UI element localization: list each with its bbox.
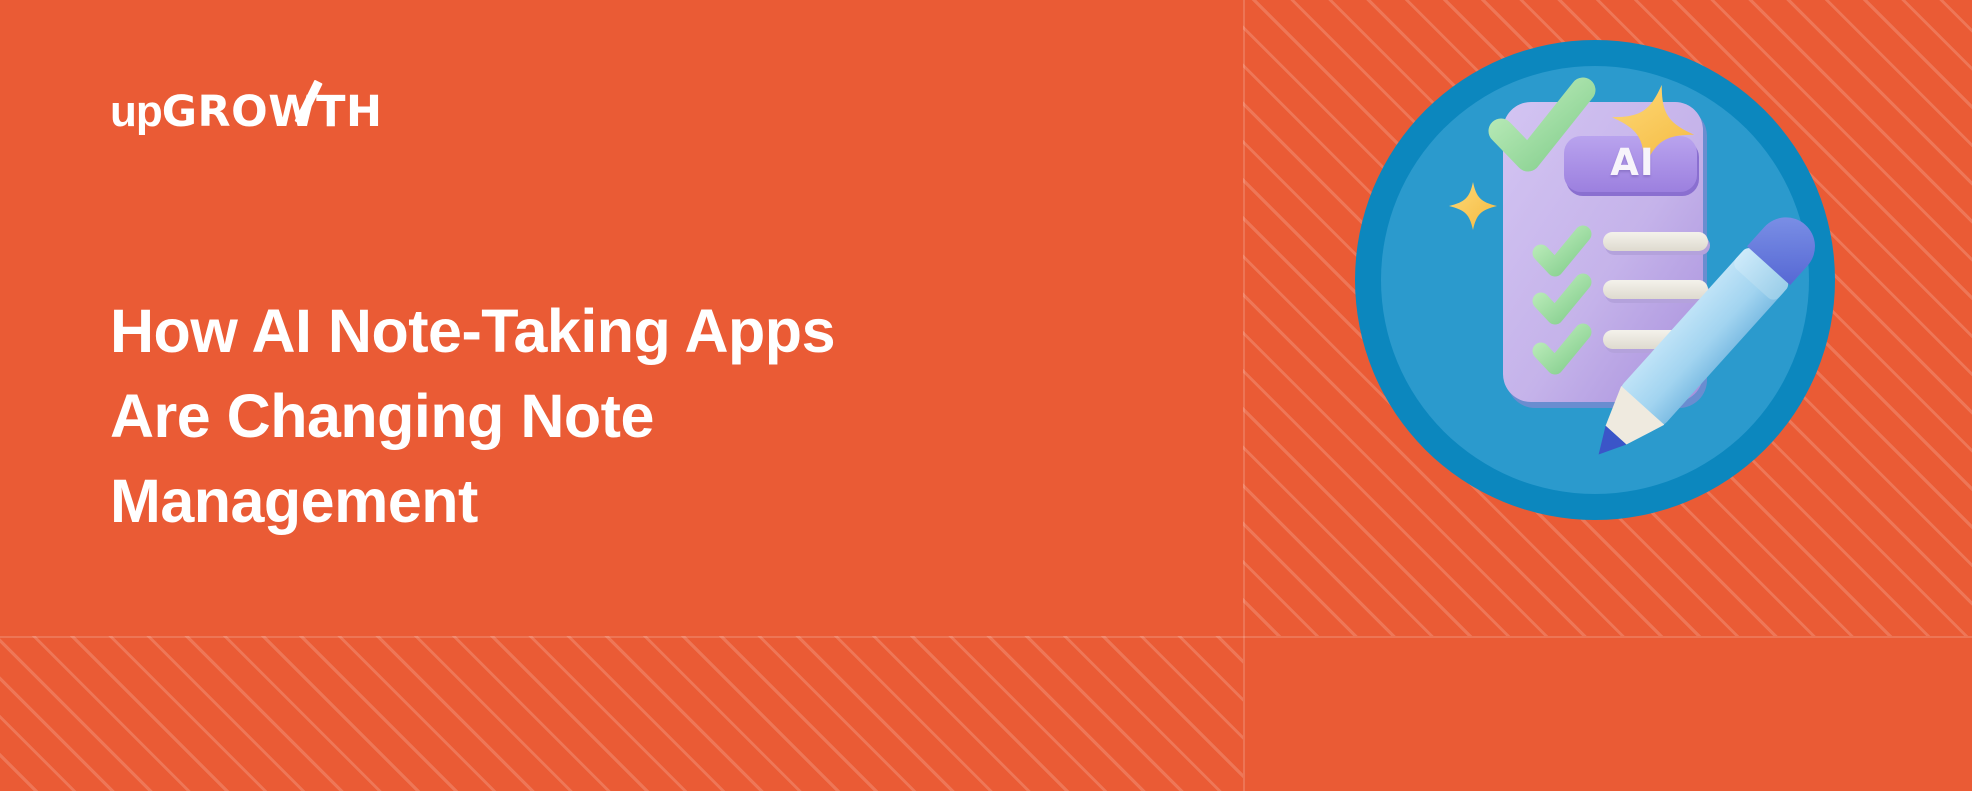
page-title: How AI Note-Taking Apps Are Changing Not… bbox=[110, 289, 1060, 544]
ai-notepad-graphic bbox=[1355, 40, 1835, 520]
horizontal-divider-line bbox=[0, 636, 1972, 638]
hero-illustration: AI bbox=[1355, 40, 1835, 520]
diagonal-stripe-pattern-bottom-left bbox=[0, 636, 1243, 791]
sparkle-star-small-icon bbox=[1449, 182, 1497, 230]
ai-badge bbox=[1564, 136, 1699, 196]
logo-text-up: up bbox=[110, 90, 162, 134]
blog-banner: up GROWTH How AI Note-Taking Apps Are Ch… bbox=[0, 0, 1972, 791]
headline-line-1: How AI Note-Taking Apps bbox=[110, 289, 1060, 374]
headline-line-2: Are Changing Note bbox=[110, 374, 1060, 459]
logo-text-growth: GROWTH bbox=[162, 87, 383, 137]
headline-line-3: Management bbox=[110, 459, 1060, 544]
logo-growth-wrap: GROWTH bbox=[162, 91, 383, 134]
brand-logo[interactable]: up GROWTH bbox=[110, 90, 382, 138]
vertical-divider-line bbox=[1243, 0, 1245, 791]
